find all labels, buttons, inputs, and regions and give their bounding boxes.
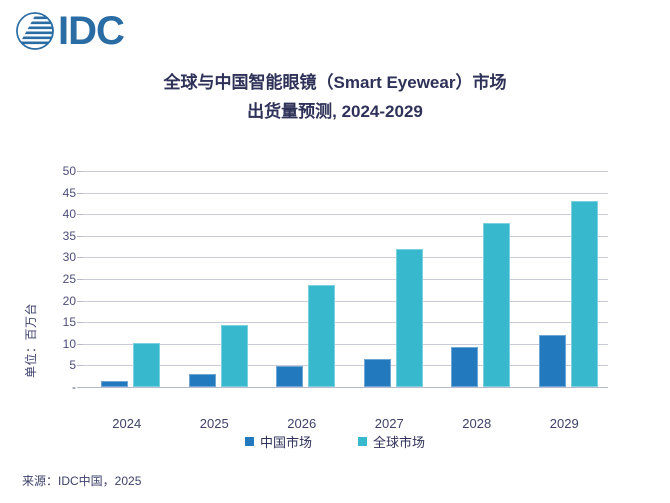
idc-wordmark: IDC <box>58 11 124 51</box>
title-line-1: 全球与中国智能眼镜（Smart Eyewear）市场 <box>164 73 507 92</box>
bar-group <box>521 150 609 410</box>
idc-logo: IDC <box>14 10 124 52</box>
legend-label: 中国市场 <box>260 432 312 451</box>
bar-groups <box>83 150 608 410</box>
x-tick-label: 2028 <box>462 416 491 431</box>
bottom-spacer <box>0 499 670 503</box>
bar-china-2029 <box>539 335 566 387</box>
chart-area: 单位：百万台 -5101520253035404550 202420252026… <box>0 150 670 410</box>
y-tick-label: 35 <box>63 229 76 243</box>
bar-group <box>346 150 434 410</box>
title-line-2: 出货量预测, 2024-2029 <box>0 97 670 126</box>
source-note: 来源：IDC中国，2025 <box>22 472 141 489</box>
bar-global-2029 <box>571 201 598 387</box>
y-tick-label: 10 <box>63 337 76 351</box>
legend-swatch-icon <box>245 437 254 446</box>
x-tick-label: 2026 <box>287 416 316 431</box>
bar-group <box>171 150 259 410</box>
bar-china-2025 <box>189 374 216 387</box>
y-tick-label: 5 <box>69 358 76 372</box>
bar-china-2026 <box>276 366 303 387</box>
x-tick-label: 2024 <box>112 416 141 431</box>
legend-item-china[interactable]: 中国市场 <box>245 432 312 451</box>
idc-globe-icon <box>14 10 56 52</box>
bar-global-2027 <box>396 249 423 387</box>
y-tick-label: 25 <box>63 272 76 286</box>
x-tick-label: 2027 <box>375 416 404 431</box>
bar-group <box>83 150 171 410</box>
bar-global-2025 <box>221 325 248 387</box>
x-tick-label: 2029 <box>550 416 579 431</box>
legend-label: 全球市场 <box>373 432 425 451</box>
bar-china-2024 <box>101 381 128 387</box>
page-title: 全球与中国智能眼镜（Smart Eyewear）市场 出货量预测, 2024-2… <box>0 68 670 126</box>
legend-swatch-icon <box>358 437 367 446</box>
x-tick-label: 2025 <box>200 416 229 431</box>
bar-group <box>433 150 521 410</box>
chart-legend: 中国市场全球市场 <box>0 432 670 451</box>
y-tick-label: 15 <box>63 315 76 329</box>
bar-china-2028 <box>451 347 478 387</box>
y-tick-label: 20 <box>63 294 76 308</box>
y-tick-label: 45 <box>63 186 76 200</box>
y-axis-title: 单位：百万台 <box>22 258 39 378</box>
y-tick-label: 50 <box>63 164 76 178</box>
y-tick-label: 30 <box>63 250 76 264</box>
legend-item-global[interactable]: 全球市场 <box>358 432 425 451</box>
y-tick-label: - <box>72 380 76 394</box>
y-tick-label: 40 <box>63 207 76 221</box>
bar-china-2027 <box>364 359 391 388</box>
bar-global-2026 <box>308 285 335 387</box>
plot-region <box>83 150 608 410</box>
bar-global-2028 <box>483 223 510 387</box>
bar-group <box>258 150 346 410</box>
bar-global-2024 <box>133 343 160 387</box>
y-axis-tick-labels: -5101520253035404550 <box>48 150 76 410</box>
